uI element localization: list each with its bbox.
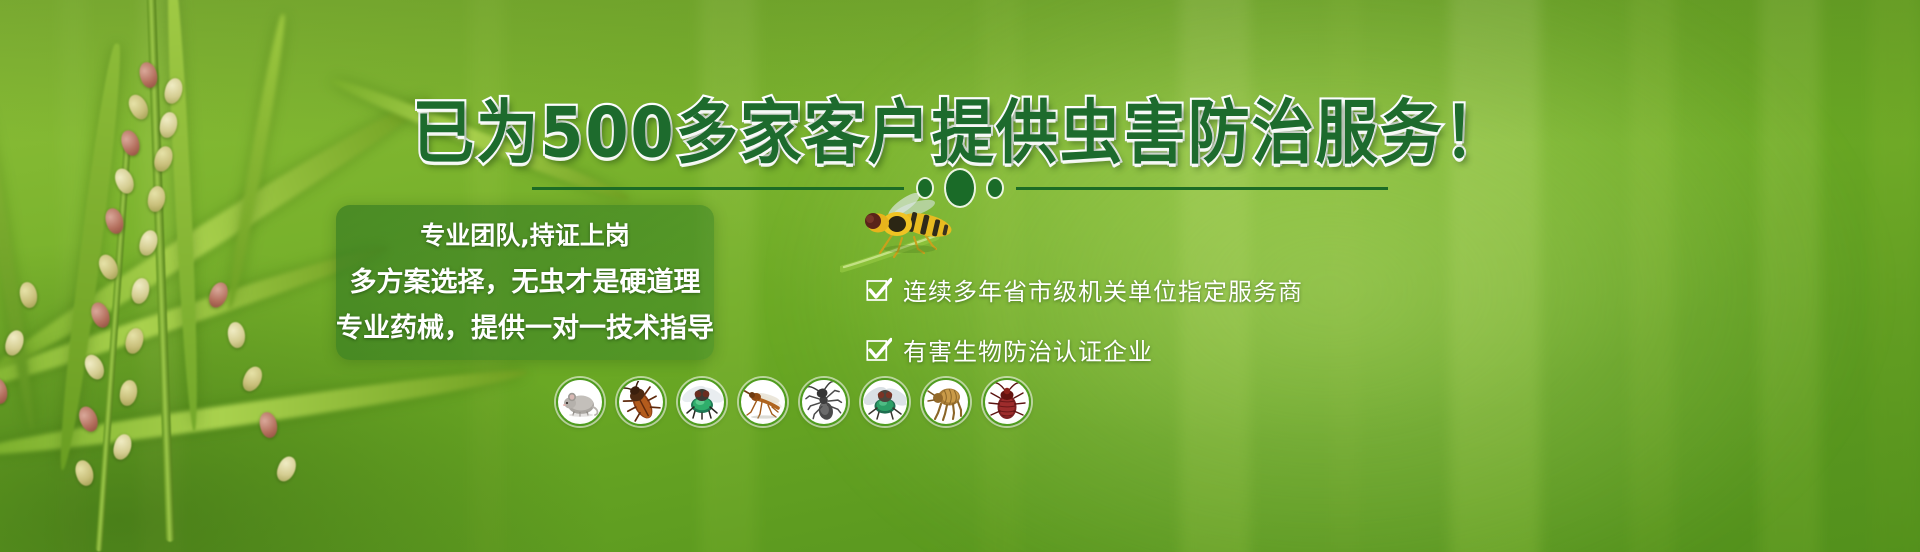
credential-label: 连续多年省市级机关单位指定服务商 [903,272,1303,307]
divider-rule-left [532,187,904,190]
panel-line-3: 专业药械，提供一对一技术指导 [336,315,714,342]
pest-icon-flea[interactable] [922,378,970,426]
pest-icon-ant[interactable] [800,378,848,426]
divider-dot-small-right [988,179,1002,197]
pest-icon-mosquito[interactable] [739,378,787,426]
bedbug-icon [986,381,1028,423]
mosquito-icon [742,381,784,423]
service-highlights-panel: 专业团队,持证上岗 多方案选择，无虫才是硬道理 专业药械，提供一对一技术指导 [336,205,714,360]
ant-icon [803,381,845,423]
credential-label: 有害生物防治认证企业 [903,332,1153,367]
flea-icon [925,381,967,423]
panel-line-1: 专业团队,持证上岗 [336,223,714,248]
page-title: 已为500多家客户提供虫害防治服务！ [0,76,1920,177]
pest-icon-housefly[interactable] [861,378,909,426]
pest-icon-cockroach[interactable] [617,378,665,426]
divider-rule-right [1016,187,1388,190]
list-item: 有害生物防治认证企业 [866,332,1303,367]
checkbox-checked-icon [866,337,892,363]
housefly-icon [864,381,906,423]
pest-icon-blowfly[interactable] [678,378,726,426]
pest-control-banner: 已为500多家客户提供虫害防治服务！ 专业团队,持证上岗 多方案选择，无虫才是硬… [0,0,1920,552]
mouse-icon [559,381,601,423]
pest-icon-bedbug[interactable] [983,378,1031,426]
cockroach-icon [620,381,662,423]
credentials-list: 连续多年省市级机关单位指定服务商 有害生物防治认证企业 [866,272,1303,392]
pest-icon-mouse[interactable] [556,378,604,426]
list-item: 连续多年省市级机关单位指定服务商 [866,272,1303,307]
headline-text: 已为500多家客户提供虫害防治服务！ [412,92,1507,174]
panel-line-2: 多方案选择，无虫才是硬道理 [336,269,714,296]
divider-dot-large [946,170,974,206]
pest-type-icons [556,378,1031,426]
blowfly-icon [681,381,723,423]
checkbox-checked-icon [866,277,892,303]
divider-dot-small-left [918,179,932,197]
divider [0,170,1920,206]
